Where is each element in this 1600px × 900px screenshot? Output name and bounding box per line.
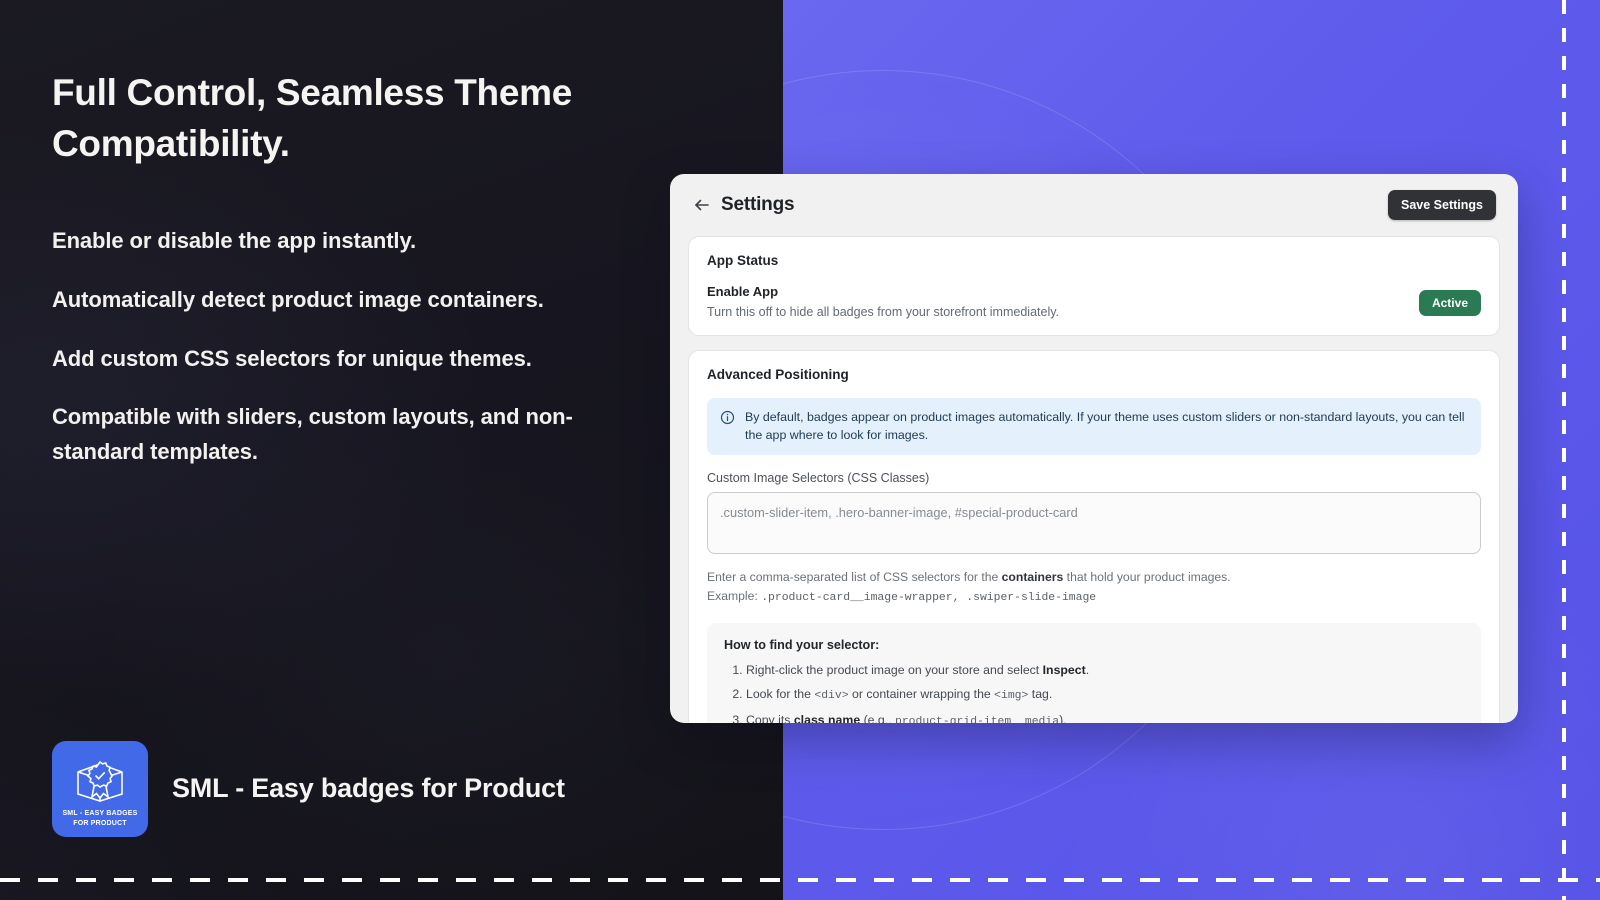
guide-line-vertical: [1562, 0, 1566, 900]
enable-app-text: Enable App Turn this off to hide all bad…: [707, 284, 1419, 319]
step-code: <div>: [814, 690, 848, 702]
save-settings-button[interactable]: Save Settings: [1388, 190, 1496, 220]
step-text: Copy its: [746, 713, 794, 723]
page-title: Full Control, Seamless Theme Compatibili…: [52, 68, 692, 169]
howto-box: How to find your selector: Right-click t…: [707, 623, 1481, 723]
info-banner: By default, badges appear on product ima…: [707, 398, 1481, 455]
list-item: Enable or disable the app instantly.: [52, 224, 612, 259]
example-code: .product-card__image-wrapper, .swiper-sl…: [761, 592, 1096, 604]
app-logo-tile: SML - EASY BADGES FOR PRODUCT: [52, 741, 148, 837]
enable-app-description: Turn this off to hide all badges from yo…: [707, 305, 1419, 319]
custom-image-selectors-input[interactable]: [707, 492, 1481, 554]
settings-title: Settings: [721, 194, 794, 216]
step-post: ).: [1059, 713, 1067, 723]
step-mid: or container wrapping the: [849, 687, 995, 701]
list-item: Look for the <div> or container wrapping…: [746, 686, 1464, 705]
list-item: Right-click the product image on your st…: [746, 662, 1464, 680]
step-code: <img>: [994, 690, 1028, 702]
step-post: tag.: [1028, 687, 1052, 701]
status-badge[interactable]: Active: [1419, 290, 1481, 316]
arrow-left-icon[interactable]: [692, 195, 712, 215]
settings-window: Settings Save Settings App Status Enable…: [670, 174, 1518, 723]
step-bold: Inspect: [1043, 663, 1086, 677]
info-circle-icon: [720, 410, 735, 425]
list-item: Copy its class name (e.g., product-grid-…: [746, 712, 1464, 723]
list-item: Compatible with sliders, custom layouts,…: [52, 400, 612, 470]
app-status-card-title: App Status: [707, 253, 1481, 268]
helper-suffix: that hold your product images.: [1063, 570, 1230, 584]
settings-header: Settings Save Settings: [670, 174, 1518, 236]
enable-app-label: Enable App: [707, 284, 1419, 299]
step-code: product-grid-item__media: [895, 716, 1059, 723]
list-item: Automatically detect product image conta…: [52, 283, 612, 318]
app-branding: SML - EASY BADGES FOR PRODUCT SML - Easy…: [52, 741, 565, 837]
step-mid: (e.g.,: [860, 713, 895, 723]
app-name-label: SML - Easy badges for Product: [172, 770, 565, 807]
howto-title: How to find your selector:: [724, 638, 1464, 652]
logo-caption-line-2: FOR PRODUCT: [62, 819, 137, 828]
app-status-card: App Status Enable App Turn this off to h…: [688, 236, 1500, 336]
list-item: Add custom CSS selectors for unique them…: [52, 342, 612, 377]
step-post: .: [1086, 663, 1089, 677]
advanced-positioning-card: Advanced Positioning By default, badges …: [688, 350, 1500, 723]
settings-body: App Status Enable App Turn this off to h…: [670, 236, 1518, 723]
helper-bold: containers: [1002, 570, 1064, 584]
selector-field-label: Custom Image Selectors (CSS Classes): [707, 471, 1481, 485]
selector-helper-text: Enter a comma-separated list of CSS sele…: [707, 568, 1481, 606]
info-banner-text: By default, badges appear on product ima…: [745, 409, 1468, 444]
step-text: Look for the: [746, 687, 814, 701]
screenshot-stage: Full Control, Seamless Theme Compatibili…: [0, 0, 1600, 900]
logo-caption-line-1: SML - EASY BADGES: [62, 809, 137, 818]
advanced-card-title: Advanced Positioning: [707, 367, 1481, 382]
step-bold: class name: [794, 713, 860, 723]
feature-list: Enable or disable the app instantly. Aut…: [52, 224, 612, 494]
helper-prefix: Enter a comma-separated list of CSS sele…: [707, 570, 1002, 584]
badge-box-icon: [71, 754, 129, 804]
step-text: Right-click the product image on your st…: [746, 663, 1043, 677]
logo-tile-caption: SML - EASY BADGES FOR PRODUCT: [62, 809, 137, 827]
example-label: Example:: [707, 589, 758, 603]
enable-app-row: Enable App Turn this off to hide all bad…: [707, 284, 1481, 319]
howto-steps: Right-click the product image on your st…: [724, 662, 1464, 723]
guide-line-horizontal: [0, 878, 1600, 882]
